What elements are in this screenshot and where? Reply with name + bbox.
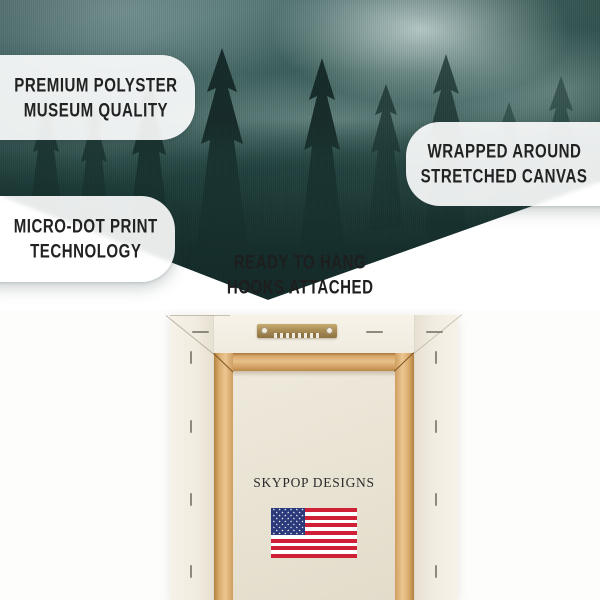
- stretcher-bar-top: [214, 353, 414, 371]
- flag-star: [293, 511, 295, 513]
- flag-star: [298, 523, 300, 525]
- callout-line: STRETCHED CANVAS: [421, 163, 588, 191]
- stretcher-shadow: [233, 371, 395, 377]
- staple: [426, 331, 443, 333]
- flag-star: [290, 532, 292, 534]
- flag-star: [298, 511, 300, 513]
- callout-line: TECHNOLOGY: [30, 238, 141, 266]
- flag-star: [296, 532, 298, 534]
- flag-star: [273, 520, 275, 522]
- staple: [190, 493, 192, 506]
- flag-star: [281, 511, 283, 513]
- flag-star: [278, 520, 280, 522]
- staple: [366, 331, 383, 333]
- brand-block: SKYPOP DESIGNS: [233, 475, 395, 558]
- staple: [435, 351, 437, 364]
- flag-star: [276, 523, 278, 525]
- flag-star: [296, 526, 298, 528]
- flag-stripe: [271, 539, 357, 543]
- hanger-teeth: [274, 333, 320, 338]
- flag-star: [298, 529, 300, 531]
- flag-star: [273, 532, 275, 534]
- flag-star: [284, 520, 286, 522]
- flag-star: [273, 514, 275, 516]
- staple: [192, 331, 209, 333]
- flag-star: [284, 514, 286, 516]
- flag-star: [296, 508, 298, 510]
- flag-star: [281, 529, 283, 531]
- infographic-stage: PREMIUM POLYSTER MUSEUM QUALITY MICRO-DO…: [0, 0, 600, 600]
- flag-star: [278, 532, 280, 534]
- flag-star: [290, 514, 292, 516]
- hanger-screw-hole: [261, 327, 268, 334]
- flag-star: [281, 523, 283, 525]
- staple: [435, 493, 437, 506]
- flag-star: [278, 508, 280, 510]
- stretched-canvas-back: SKYPOP DESIGNS: [170, 315, 458, 600]
- callout-line: HOOKS ATTACHED: [227, 273, 374, 301]
- staple: [190, 565, 192, 578]
- callout-line: READY TO HANG: [234, 249, 366, 277]
- flag-star: [284, 532, 286, 534]
- staple: [435, 565, 437, 578]
- flag-star: [301, 526, 303, 528]
- callout-premium-polyster: PREMIUM POLYSTER MUSEUM QUALITY: [0, 55, 195, 140]
- sawtooth-hanger-icon: [257, 323, 337, 339]
- flag-star: [301, 508, 303, 510]
- stretcher-bar-left: [214, 353, 233, 600]
- callout-line: WRAPPED AROUND: [428, 138, 582, 166]
- flag-star: [276, 529, 278, 531]
- flag-star: [276, 511, 278, 513]
- callout-micro-dot-print: MICRO-DOT PRINT TECHNOLOGY: [0, 196, 175, 282]
- flag-star: [290, 526, 292, 528]
- callout-ready-to-hang: READY TO HANG HOOKS ATTACHED: [214, 250, 386, 300]
- flag-star: [273, 526, 275, 528]
- staple: [190, 351, 192, 364]
- flag-star: [287, 523, 289, 525]
- flag-star: [301, 520, 303, 522]
- united-states-flag-icon: [271, 508, 357, 558]
- stretcher-bar-right: [395, 353, 414, 600]
- flag-stripe: [271, 546, 357, 550]
- flag-star: [290, 520, 292, 522]
- flag-canton: [271, 508, 305, 535]
- flag-star: [278, 526, 280, 528]
- flag-star: [290, 508, 292, 510]
- flag-star: [284, 526, 286, 528]
- flag-star: [287, 517, 289, 519]
- staple: [190, 420, 192, 433]
- callout-line: MICRO-DOT PRINT: [13, 213, 157, 241]
- flag-star: [276, 517, 278, 519]
- flag-star: [281, 517, 283, 519]
- flag-stripe: [271, 554, 357, 558]
- callout-line: PREMIUM POLYSTER: [14, 71, 177, 99]
- flag-star: [296, 520, 298, 522]
- callout-wrapped-around: WRAPPED AROUND STRETCHED CANVAS: [406, 122, 600, 206]
- staple: [435, 420, 437, 433]
- flag-star: [293, 529, 295, 531]
- brand-name: SKYPOP DESIGNS: [253, 475, 374, 491]
- flag-star: [287, 511, 289, 513]
- hanger-screw-hole: [326, 327, 333, 334]
- flag-star: [293, 517, 295, 519]
- flag-star: [287, 529, 289, 531]
- flag-star: [298, 517, 300, 519]
- flag-star: [273, 508, 275, 510]
- callout-line: MUSEUM QUALITY: [23, 96, 167, 124]
- flag-star: [301, 532, 303, 534]
- flag-star: [293, 523, 295, 525]
- flag-star: [284, 508, 286, 510]
- flag-star: [301, 514, 303, 516]
- flag-star: [296, 514, 298, 516]
- flag-star: [278, 514, 280, 516]
